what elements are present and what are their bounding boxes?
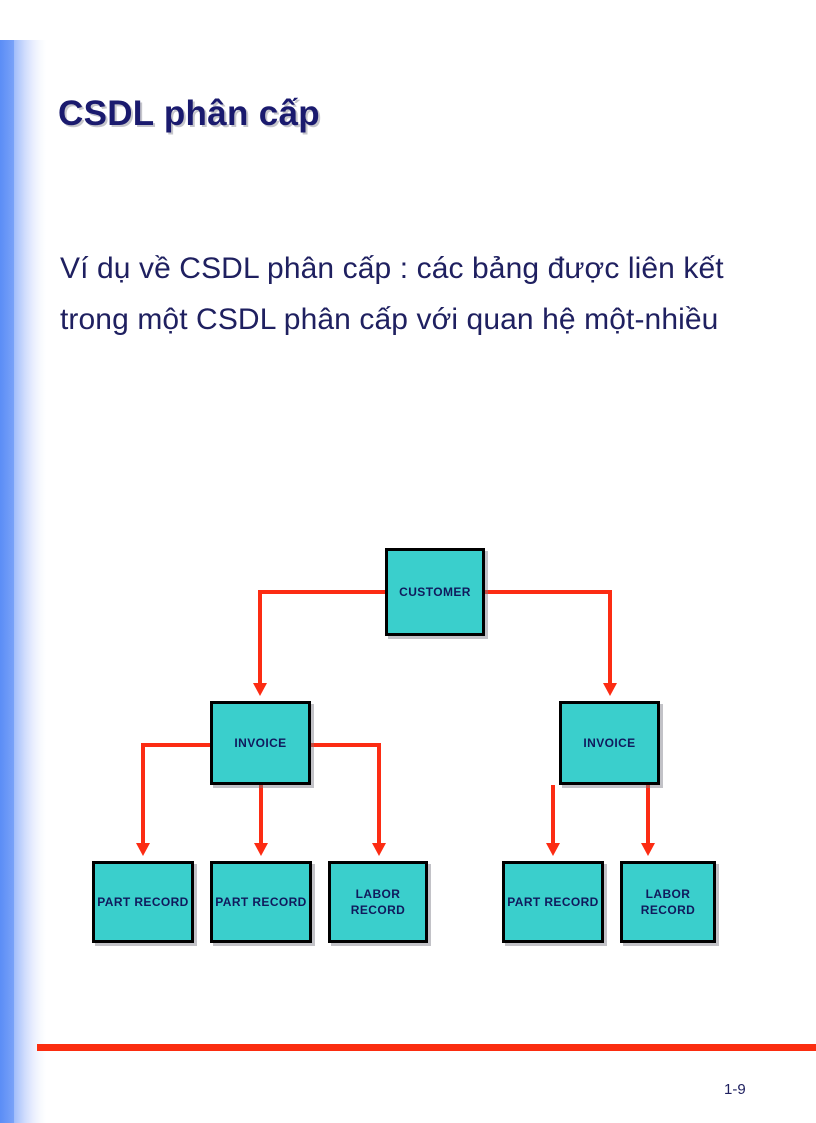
connector-invoice2-labor2-vertical [646, 785, 650, 843]
slide-canvas: CSDL phân cấp Ví dụ về CSDL phân cấp : c… [0, 0, 816, 1123]
connector-customer-invoice2-horizontal [483, 590, 612, 594]
node-invoice-2[interactable]: INVOICE [559, 701, 660, 785]
connector-invoice1-part1-horizontal [141, 743, 212, 747]
arrowhead-invoice2-part3 [546, 843, 560, 856]
node-customer-label: CUSTOMER [399, 585, 471, 599]
connector-invoice2-part3-vertical [551, 785, 555, 843]
arrowhead-invoice1-part2 [254, 843, 268, 856]
node-invoice-1[interactable]: INVOICE [210, 701, 311, 785]
node-labor-record-2[interactable]: LABOR RECORD [620, 861, 716, 943]
node-invoice-2-label: INVOICE [583, 736, 635, 750]
node-customer[interactable]: CUSTOMER [385, 548, 485, 636]
node-labor-record-1-label: LABOR RECORD [351, 886, 405, 918]
footer-divider [37, 1044, 816, 1051]
node-part-record-3[interactable]: PART RECORD [502, 861, 604, 943]
arrowhead-customer-invoice1 [253, 683, 267, 696]
connector-invoice1-part2-vertical [259, 785, 263, 843]
connector-invoice1-part1-vertical [141, 743, 145, 843]
node-labor-record-2-label: LABOR RECORD [641, 886, 695, 918]
node-part-record-1[interactable]: PART RECORD [92, 861, 194, 943]
node-labor-record-1[interactable]: LABOR RECORD [328, 861, 428, 943]
connector-customer-invoice1-horizontal [258, 590, 387, 594]
node-part-record-2[interactable]: PART RECORD [210, 861, 312, 943]
hierarchy-diagram: CUSTOMER INVOICE INVOICE PART RECORD PAR… [0, 0, 816, 1123]
connector-invoice1-labor1-horizontal [309, 743, 381, 747]
arrowhead-customer-invoice2 [603, 683, 617, 696]
arrowhead-invoice2-labor2 [641, 843, 655, 856]
connector-invoice1-labor1-vertical [377, 743, 381, 843]
node-part-record-1-label: PART RECORD [97, 895, 189, 909]
arrowhead-invoice1-labor1 [372, 843, 386, 856]
node-part-record-2-label: PART RECORD [215, 895, 307, 909]
node-part-record-3-label: PART RECORD [507, 895, 599, 909]
arrowhead-invoice1-part1 [136, 843, 150, 856]
page-number: 1-9 [724, 1081, 746, 1098]
node-invoice-1-label: INVOICE [234, 736, 286, 750]
connector-customer-invoice1-vertical [258, 590, 262, 683]
connector-customer-invoice2-vertical [608, 590, 612, 683]
